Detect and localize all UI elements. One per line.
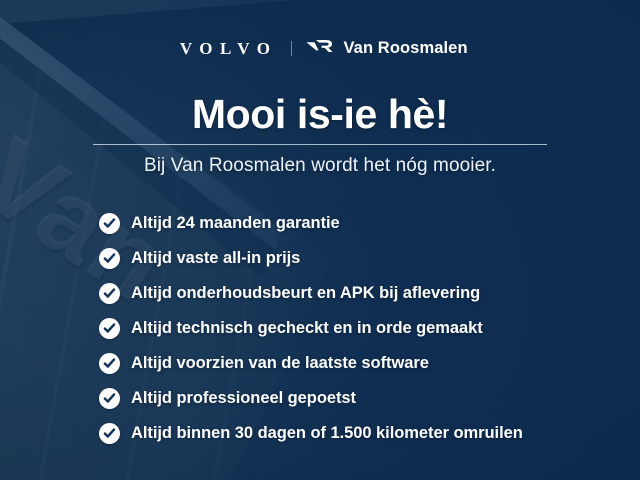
divider-rule [93,144,547,145]
check-circle-icon [99,388,120,409]
checklist-item: Altijd professioneel gepoetst [99,387,628,410]
volvo-wordmark: VOLVO [172,40,277,57]
check-circle-icon [99,248,120,269]
subheadline: Bij Van Roosmalen wordt het nóg mooier. [0,155,640,177]
checklist-item: Altijd onderhoudsbeurt en APK bij afleve… [99,282,628,305]
dealer-name: Van Roosmalen [343,40,467,57]
dealer-logo: Van Roosmalen [306,38,467,59]
checklist-item-label: Altijd technisch gecheckt en in orde gem… [131,320,483,337]
checklist-item-label: Altijd vaste all-in prijs [131,250,300,267]
checklist-item: Altijd vaste all-in prijs [99,247,628,270]
check-circle-icon [99,423,120,444]
checklist-item-label: Altijd binnen 30 dagen of 1.500 kilomete… [131,425,523,442]
logo-bar: VOLVO Van Roosmalen [0,38,640,59]
check-circle-icon [99,283,120,304]
checklist-item: Altijd 24 maanden garantie [99,212,628,235]
checklist-item-label: Altijd 24 maanden garantie [131,215,340,232]
vr-monogram-icon [306,38,336,59]
checklist-item: Altijd technisch gecheckt en in orde gem… [99,317,628,340]
benefits-checklist: Altijd 24 maanden garantieAltijd vaste a… [99,212,628,445]
checklist-item-label: Altijd onderhoudsbeurt en APK bij afleve… [131,285,480,302]
check-circle-icon [99,318,120,339]
logo-separator [291,41,292,56]
check-circle-icon [99,353,120,374]
headline: Mooi is-ie hè! [0,92,640,137]
check-circle-icon [99,213,120,234]
promo-banner: Van VOLVO Van Roosmalen Mooi is-ie hè! B… [0,0,640,480]
checklist-item: Altijd voorzien van de laatste software [99,352,628,375]
checklist-item-label: Altijd professioneel gepoetst [131,390,356,407]
banner-content: VOLVO Van Roosmalen Mooi is-ie hè! Bij V… [0,0,640,480]
checklist-item: Altijd binnen 30 dagen of 1.500 kilomete… [99,422,628,445]
checklist-item-label: Altijd voorzien van de laatste software [131,355,429,372]
